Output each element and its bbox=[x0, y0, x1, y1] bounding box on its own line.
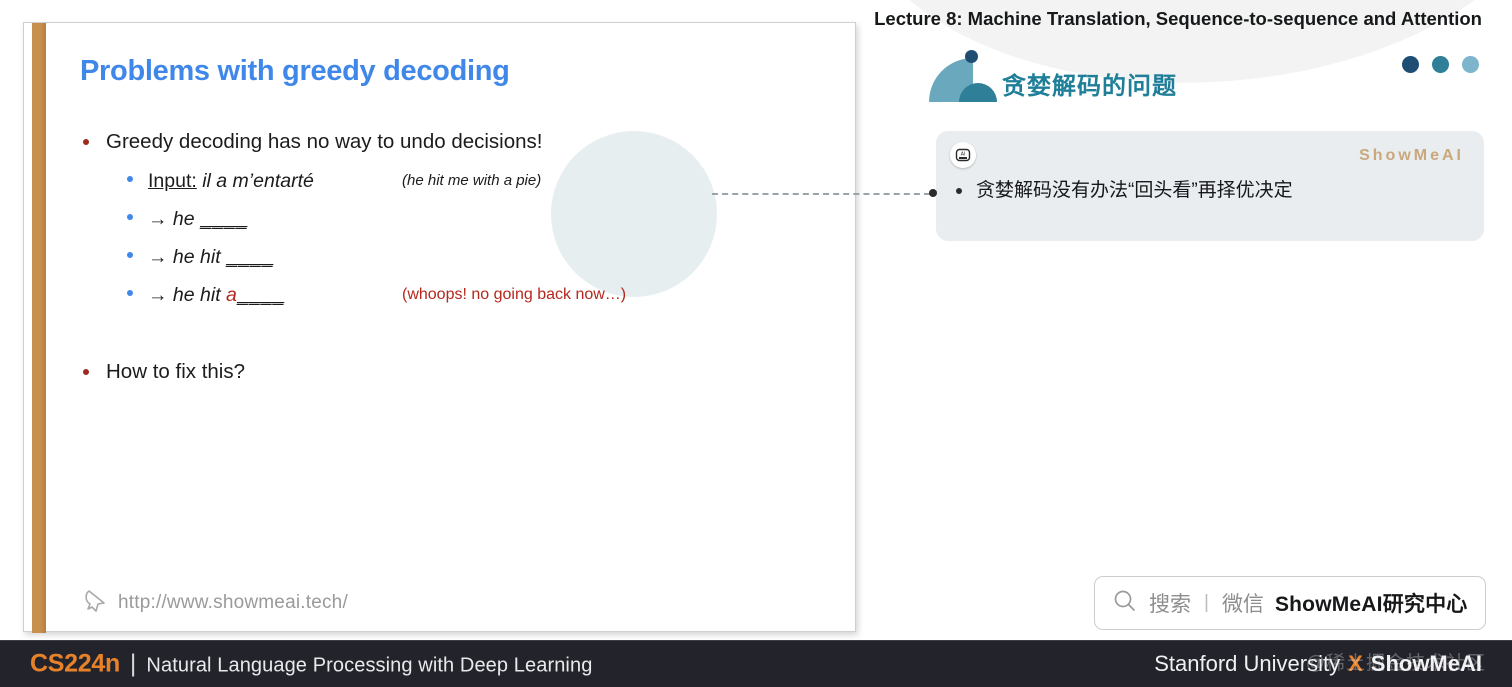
slide-accent-bar bbox=[32, 23, 46, 633]
sub-bullet-input: Input: il a m’entarté (he hit me with a … bbox=[72, 162, 772, 200]
search-icon bbox=[1112, 588, 1138, 619]
search-pill-label-channel: 微信 bbox=[1222, 588, 1264, 618]
connector-endpoint-dot bbox=[929, 189, 937, 197]
sub-bullet-step-1-label: → he ____ bbox=[148, 208, 247, 230]
bottom-bar-divider: | bbox=[130, 650, 137, 679]
section-decorative-shape bbox=[929, 50, 999, 102]
bottom-bar-left: CS224n | Natural Language Processing wit… bbox=[30, 650, 592, 679]
course-code: CS224n bbox=[30, 650, 120, 679]
dot-dark-navy-icon bbox=[1402, 56, 1419, 73]
course-name: Natural Language Processing with Deep Le… bbox=[146, 655, 592, 678]
sub-bullet-dot-icon bbox=[127, 290, 133, 296]
sub-bullet-dot-icon bbox=[127, 252, 133, 258]
step-3-highlight-word: a bbox=[226, 284, 237, 306]
sub-bullet-step-3-label: → he hit a____ bbox=[148, 284, 284, 306]
slide-footer: http://www.showmeai.tech/ bbox=[82, 587, 348, 618]
sub-bullet-step-1: → he ____ bbox=[72, 200, 772, 238]
callout-bullet-label: 贪婪解码没有办法“回头看”再择优决定 bbox=[976, 177, 1293, 204]
sub-bullet-dot-icon bbox=[127, 176, 133, 182]
slide-card: Problems with greedy decoding Greedy dec… bbox=[23, 22, 856, 632]
slide-title: Problems with greedy decoding bbox=[80, 55, 510, 88]
sub-bullet-input-gloss: (he hit me with a pie) bbox=[402, 162, 541, 200]
sub-bullet-step-2: → he hit ____ bbox=[72, 238, 772, 276]
bullet-dot-icon bbox=[83, 369, 89, 375]
input-underlined-label: Input: bbox=[148, 170, 197, 192]
search-pill-separator: | bbox=[1204, 592, 1209, 614]
screenshot-root: Problems with greedy decoding Greedy dec… bbox=[0, 0, 1512, 687]
step-1-text: → he bbox=[148, 208, 200, 230]
sub-bullet-step-2-label: → he hit ____ bbox=[148, 246, 273, 268]
site-watermark: @稀土掘金技术社区 bbox=[1306, 648, 1486, 675]
sub-bullet-step-3: → he hit a____ (whoops! no going back no… bbox=[72, 276, 772, 314]
bullet-dot-icon bbox=[83, 139, 89, 145]
search-pill-label-search: 搜索 bbox=[1149, 588, 1191, 618]
callout-brand-watermark: ShowMeAI bbox=[1359, 147, 1464, 165]
sub-bullet-step-3-gloss: (whoops! no going back now…) bbox=[402, 276, 626, 314]
decorative-dots-row bbox=[1402, 56, 1479, 73]
navy-dot-icon bbox=[965, 50, 978, 63]
ai-robot-icon: AI bbox=[950, 142, 976, 168]
svg-text:AI: AI bbox=[961, 152, 966, 158]
search-pill[interactable]: 搜索 | 微信 ShowMeAI研究中心 bbox=[1094, 576, 1486, 630]
step-1-blank: ____ bbox=[200, 208, 247, 230]
bullet-top-label: Greedy decoding has no way to undo decis… bbox=[106, 130, 542, 153]
dot-light-blue-icon bbox=[1462, 56, 1479, 73]
callout-box: AI ShowMeAI 贪婪解码没有办法“回头看”再择优决定 bbox=[936, 131, 1484, 241]
step-3-text: → he hit bbox=[148, 284, 226, 306]
sub-bullet-dot-icon bbox=[127, 214, 133, 220]
step-3-blank: ____ bbox=[237, 284, 284, 306]
bottom-bar: CS224n | Natural Language Processing wit… bbox=[0, 640, 1512, 687]
input-french-text: il a m’entarté bbox=[197, 170, 314, 192]
callout-bullet-dot-icon bbox=[956, 188, 962, 194]
bullet-closing-label: How to fix this? bbox=[106, 360, 245, 383]
slide-footer-url[interactable]: http://www.showmeai.tech/ bbox=[118, 592, 348, 614]
bullet-top: Greedy decoding has no way to undo decis… bbox=[72, 128, 772, 156]
callout-bullet: 贪婪解码没有办法“回头看”再择优决定 bbox=[956, 177, 1293, 204]
step-2-blank: ____ bbox=[226, 246, 273, 268]
cursor-arrow-icon bbox=[82, 587, 108, 618]
step-2-text: → he hit bbox=[148, 246, 226, 268]
dot-teal-icon bbox=[1432, 56, 1449, 73]
section-heading-cn: 贪婪解码的问题 bbox=[1002, 66, 1177, 101]
dashed-connector-line bbox=[712, 193, 930, 195]
slide-body: Greedy decoding has no way to undo decis… bbox=[72, 128, 772, 392]
search-pill-brand: ShowMeAI研究中心 bbox=[1275, 588, 1468, 618]
sub-bullet-input-label: Input: il a m’entarté bbox=[148, 170, 314, 192]
lecture-title: Lecture 8: Machine Translation, Sequence… bbox=[872, 6, 1482, 31]
bullet-closing: How to fix this? bbox=[72, 358, 772, 386]
